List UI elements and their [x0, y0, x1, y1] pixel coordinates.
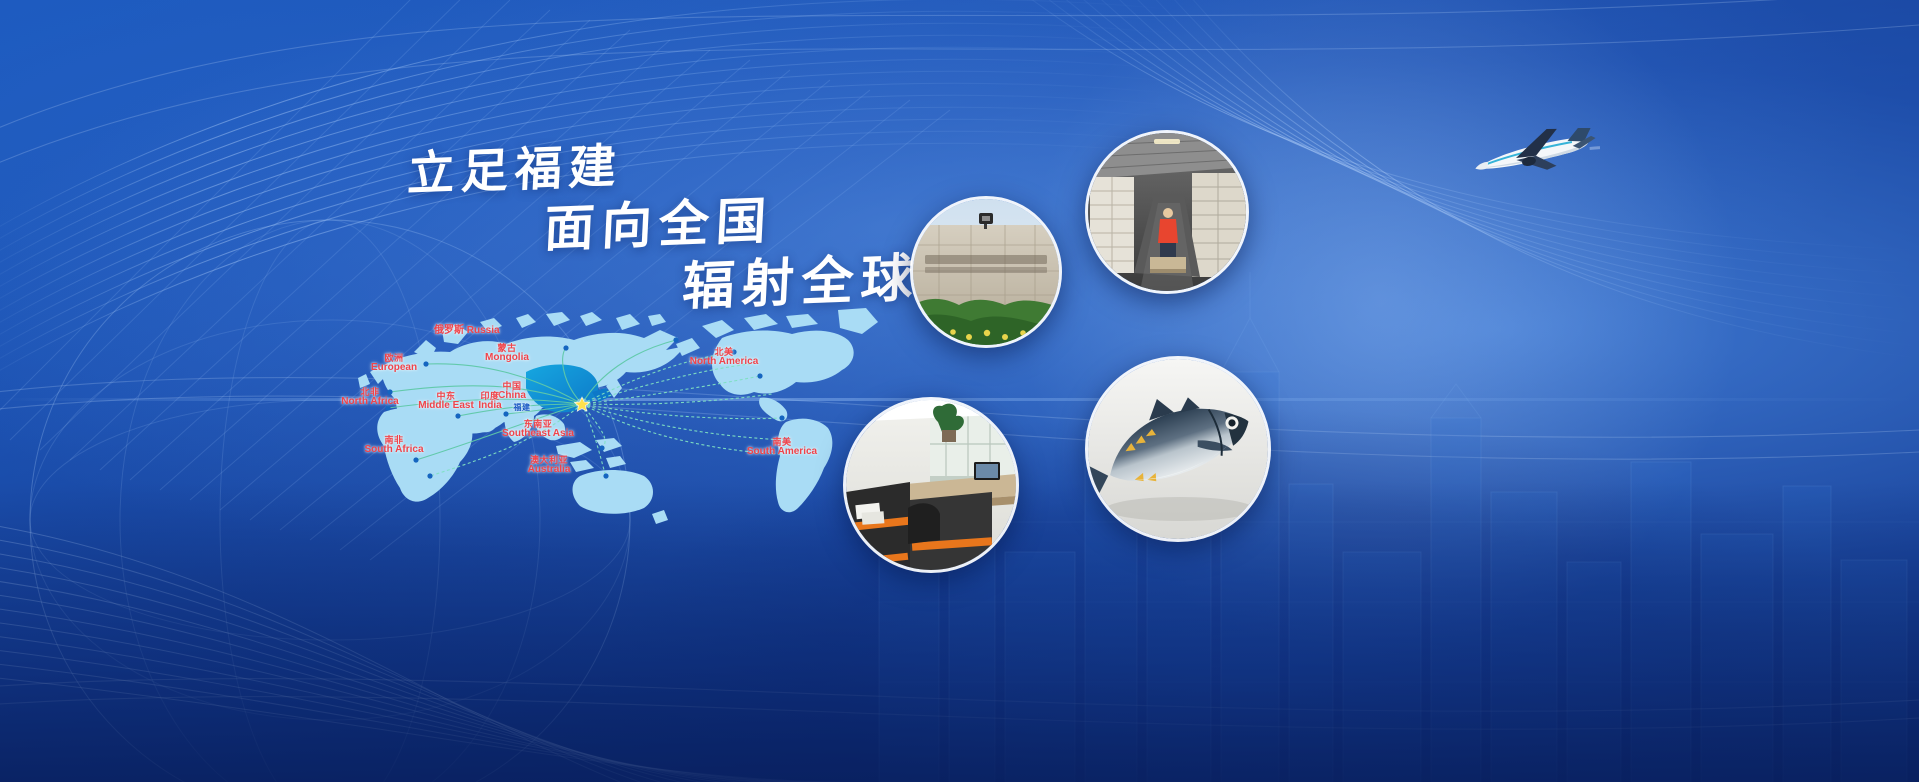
photo-office-interior[interactable]	[843, 397, 1019, 573]
light-sweep-overlay	[0, 0, 1919, 697]
photo-cold-storage[interactable]	[1085, 130, 1249, 294]
airplane-icon	[1470, 128, 1600, 184]
headline-group: 立足福建 面向全国 辐射全球	[0, 0, 1919, 782]
headline-line-2: 面向全国	[543, 181, 775, 262]
wireframe-line-art	[0, 0, 1919, 782]
banner-stage: 立足福建 面向全国 辐射全球	[0, 0, 1919, 782]
photo-factory-gate[interactable]	[910, 196, 1062, 348]
photo-tuna-fish[interactable]	[1085, 356, 1271, 542]
headline-line-1: 立足福建	[406, 127, 624, 204]
world-map: 俄罗斯 Russia 蒙古Mongolia 欧洲European 中国China…	[330, 300, 890, 530]
